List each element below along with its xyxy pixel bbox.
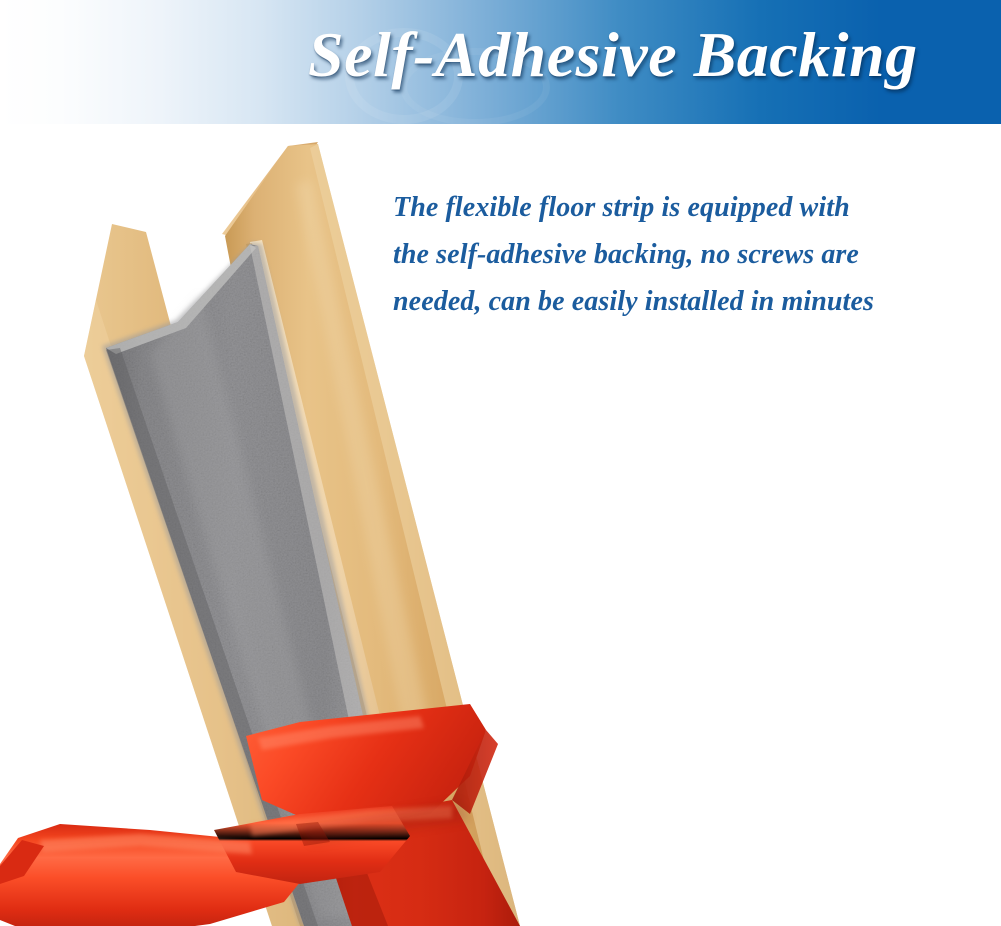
product-feature-image: Self-Adhesive Backing The flexible floor… bbox=[0, 0, 1001, 926]
product-illustration bbox=[0, 124, 1001, 926]
product-photo bbox=[0, 124, 1001, 926]
header-banner: Self-Adhesive Backing bbox=[0, 0, 1001, 124]
page-title: Self-Adhesive Backing bbox=[308, 18, 918, 92]
